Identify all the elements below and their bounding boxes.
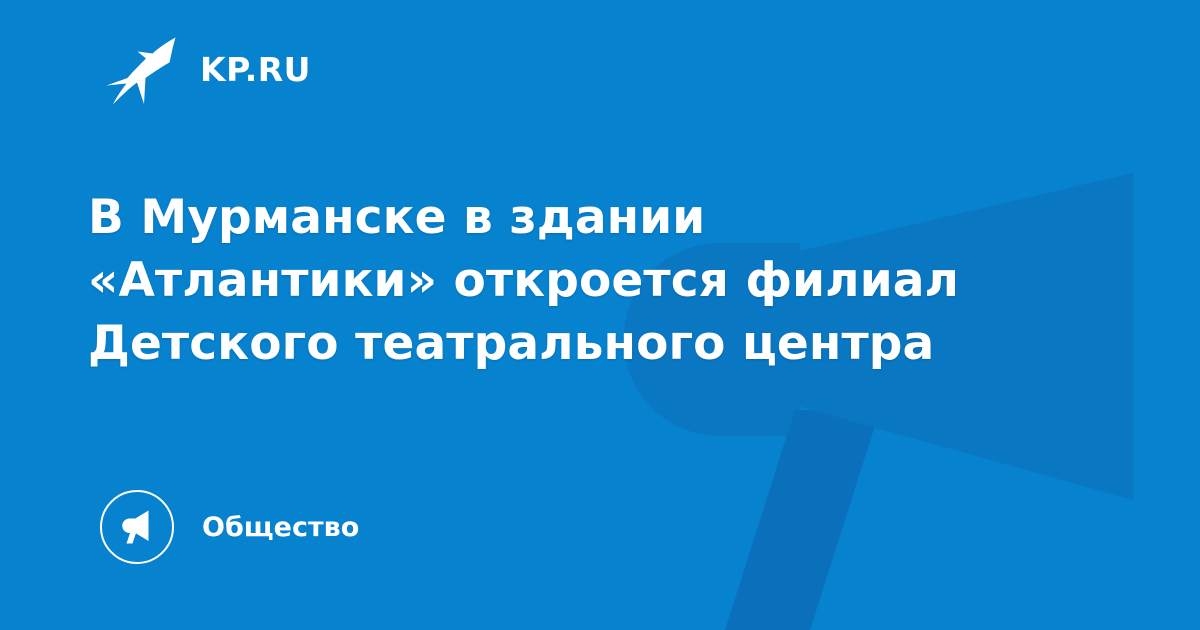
swallow-bird-logo-icon	[104, 33, 178, 105]
page-title: В Мурманске в здании «Атлантики» откроет…	[88, 186, 1048, 375]
rubric-label: Общество	[202, 514, 359, 541]
rubric-badge-group[interactable]: Общество	[100, 485, 359, 569]
social-share-card: KP.RU В Мурманске в здании «Атлантики» о…	[0, 0, 1200, 630]
brand-header[interactable]: KP.RU	[104, 33, 311, 105]
brand-name: KP.RU	[200, 53, 311, 86]
headline-line-3: Детского театрального центра	[88, 312, 1048, 375]
megaphone-icon	[117, 508, 157, 546]
headline-line-1: В Мурманске в здании	[88, 186, 1048, 249]
rubric-icon-circle	[100, 490, 174, 564]
headline-line-2: «Атлантики» откроется филиал	[88, 249, 1048, 312]
